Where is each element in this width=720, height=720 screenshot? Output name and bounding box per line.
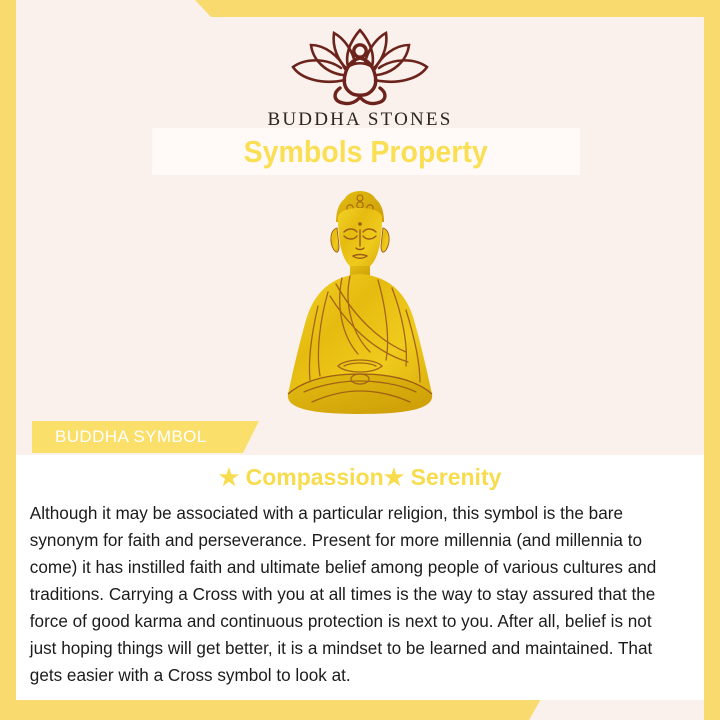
page-title: Symbols Property: [244, 134, 488, 170]
decorative-top-bar: [0, 0, 720, 17]
upper-panel: BUDDHA STONES Symbols Property: [16, 17, 704, 455]
content-body: Although it may be associated with a par…: [16, 491, 694, 689]
decorative-right-bar: [704, 0, 720, 720]
content-headline: ★ Compassion★ Serenity: [16, 455, 704, 491]
infographic-page: BUDDHA STONES Symbols Property: [0, 0, 720, 720]
lotus-meditation-icon: [285, 25, 435, 107]
decorative-left-bar: [0, 0, 16, 720]
symbol-tag-banner: BUDDHA SYMBOL: [32, 421, 259, 453]
title-banner: Symbols Property: [152, 128, 580, 175]
seated-buddha-illustration: [258, 180, 462, 422]
symbol-tag-label: BUDDHA SYMBOL: [55, 427, 207, 447]
content-panel: ★ Compassion★ Serenity Although it may b…: [16, 455, 704, 700]
brand-block: BUDDHA STONES: [16, 25, 704, 131]
